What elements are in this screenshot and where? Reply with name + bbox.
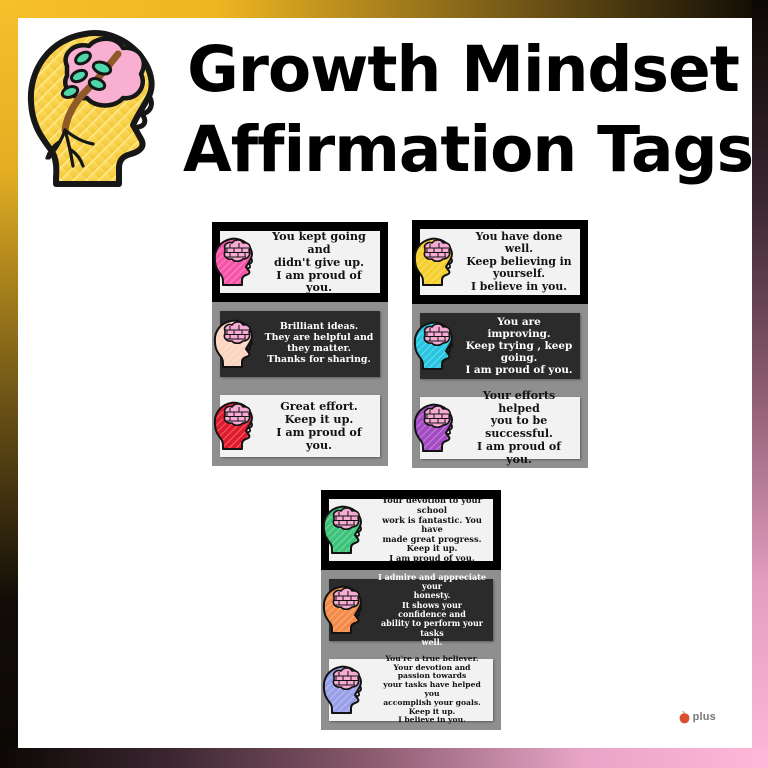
poster-page: Growth Mindset Affirmation Tags You kept… <box>0 0 768 768</box>
poster-title-block: Growth Mindset Affirmation Tags <box>183 30 743 190</box>
brain-head-logo <box>23 26 171 191</box>
affirmation-text: Great effort.Keep it up.I am proud of yo… <box>264 400 374 452</box>
orange-head-icon <box>321 585 367 635</box>
apple-logo-icon <box>678 710 691 724</box>
affirmation-line: Your devotion and passion towards <box>377 664 487 682</box>
affirmation-card: You are improving.Keep trying , keepgoin… <box>420 313 580 379</box>
affirmation-line: Your devotion to your school <box>377 496 487 515</box>
affirmation-line: you to be successful. <box>464 415 574 441</box>
page-title-line-1: Growth Mindset <box>183 30 743 110</box>
affirmation-card: I admire and appreciate yourhonesty.It s… <box>329 579 493 641</box>
watermark-logo: plus <box>678 710 716 724</box>
affirmation-line: I believe in you. <box>464 281 574 294</box>
affirmation-tag[interactable]: You are improving.Keep trying , keepgoin… <box>412 304 588 388</box>
affirmation-line: I am proud of you. <box>264 426 374 452</box>
affirmation-line: well. <box>377 638 487 647</box>
affirmation-line: You have done well. <box>464 231 574 256</box>
affirmation-card: You're a true believer.Your devotion and… <box>329 659 493 721</box>
frame-bottom-gradient <box>0 748 768 768</box>
affirmation-text: You are improving.Keep trying , keepgoin… <box>464 316 574 376</box>
frame-left-gradient <box>0 0 18 768</box>
poster-canvas: Growth Mindset Affirmation Tags You kept… <box>18 18 752 748</box>
affirmation-card: Your efforts helpedyou to be successful.… <box>420 397 580 459</box>
affirmation-text: You kept going anddidn't give up.I am pr… <box>264 230 374 295</box>
affirmation-text: Your efforts helpedyou to be successful.… <box>464 390 574 467</box>
affirmation-text: I admire and appreciate yourhonesty.It s… <box>377 573 487 647</box>
affirmation-line: going. <box>464 352 574 364</box>
affirmation-line: I am proud of you. <box>464 364 574 376</box>
affirmation-line: work is fantastic. You have <box>377 516 487 535</box>
affirmation-tag[interactable]: Your devotion to your schoolwork is fant… <box>321 490 501 570</box>
poster-header: Growth Mindset Affirmation Tags <box>18 18 752 198</box>
red-head-icon <box>212 401 258 451</box>
affirmation-line: You kept going and <box>264 230 374 256</box>
peach-head-icon <box>212 319 258 369</box>
affirmation-text: You're a true believer.Your devotion and… <box>377 655 487 725</box>
green-head-icon <box>321 505 367 555</box>
affirmation-text: Your devotion to your schoolwork is fant… <box>377 496 487 563</box>
frame-right-gradient <box>752 0 768 768</box>
affirmation-tag[interactable]: Your efforts helpedyou to be successful.… <box>412 388 588 468</box>
frame-top-gradient <box>0 0 768 18</box>
affirmation-line: I am proud of you. <box>377 554 487 564</box>
watermark-text: plus <box>693 711 716 723</box>
affirmation-line: yourself. <box>464 268 574 281</box>
tag-group-column-left: You kept going anddidn't give up.I am pr… <box>212 222 388 466</box>
affirmation-text: You have done well.Keep believing inyour… <box>464 231 574 294</box>
affirmation-line: I admire and appreciate your <box>377 573 487 592</box>
affirmation-line: didn't give up. <box>264 256 374 269</box>
affirmation-card: You kept going anddidn't give up.I am pr… <box>220 231 380 293</box>
affirmation-card: Your devotion to your schoolwork is fant… <box>329 499 493 561</box>
affirmation-tag[interactable]: Brilliant ideas.They are helpful andthey… <box>212 302 388 386</box>
affirmation-line: Thanks for sharing. <box>264 355 374 366</box>
affirmation-tag[interactable]: You have done well.Keep believing inyour… <box>412 220 588 304</box>
affirmation-tag[interactable]: I admire and appreciate yourhonesty.It s… <box>321 570 501 650</box>
affirmation-card: Great effort.Keep it up.I am proud of yo… <box>220 395 380 457</box>
tag-group-column-bottom: Your devotion to your schoolwork is fant… <box>321 490 501 730</box>
page-title-line-2: Affirmation Tags <box>183 110 743 190</box>
affirmation-card: You have done well.Keep believing inyour… <box>420 229 580 295</box>
affirmation-tag[interactable]: You kept going anddidn't give up.I am pr… <box>212 222 388 302</box>
affirmation-text: Brilliant ideas.They are helpful andthey… <box>264 322 374 366</box>
affirmation-tag[interactable]: Great effort.Keep it up.I am proud of yo… <box>212 386 388 466</box>
affirmation-tag[interactable]: You're a true believer.Your devotion and… <box>321 650 501 730</box>
yellow-head-icon <box>412 237 458 287</box>
affirmation-line: ability to perform your tasks <box>377 619 487 638</box>
purple-head-icon <box>412 403 458 453</box>
tag-group-column-right: You have done well.Keep believing inyour… <box>412 220 588 468</box>
periwinkle-head-icon <box>321 665 367 715</box>
affirmation-line: I am proud of you. <box>464 441 574 467</box>
pink-head-icon <box>212 237 258 287</box>
affirmation-line: Keep trying , keep <box>464 340 574 352</box>
affirmation-line: I believe in you. <box>377 716 487 725</box>
affirmation-line: Your efforts helped <box>464 390 574 416</box>
affirmation-line: accomplish your goals. Keep it up. <box>377 699 487 717</box>
affirmation-line: It shows your confidence and <box>377 601 487 620</box>
affirmation-line: You are improving. <box>464 316 574 340</box>
affirmation-card: Brilliant ideas.They are helpful andthey… <box>220 311 380 377</box>
cyan-head-icon <box>412 321 458 371</box>
affirmation-line: I am proud of you. <box>264 269 374 295</box>
affirmation-line: your tasks have helped you <box>377 681 487 699</box>
